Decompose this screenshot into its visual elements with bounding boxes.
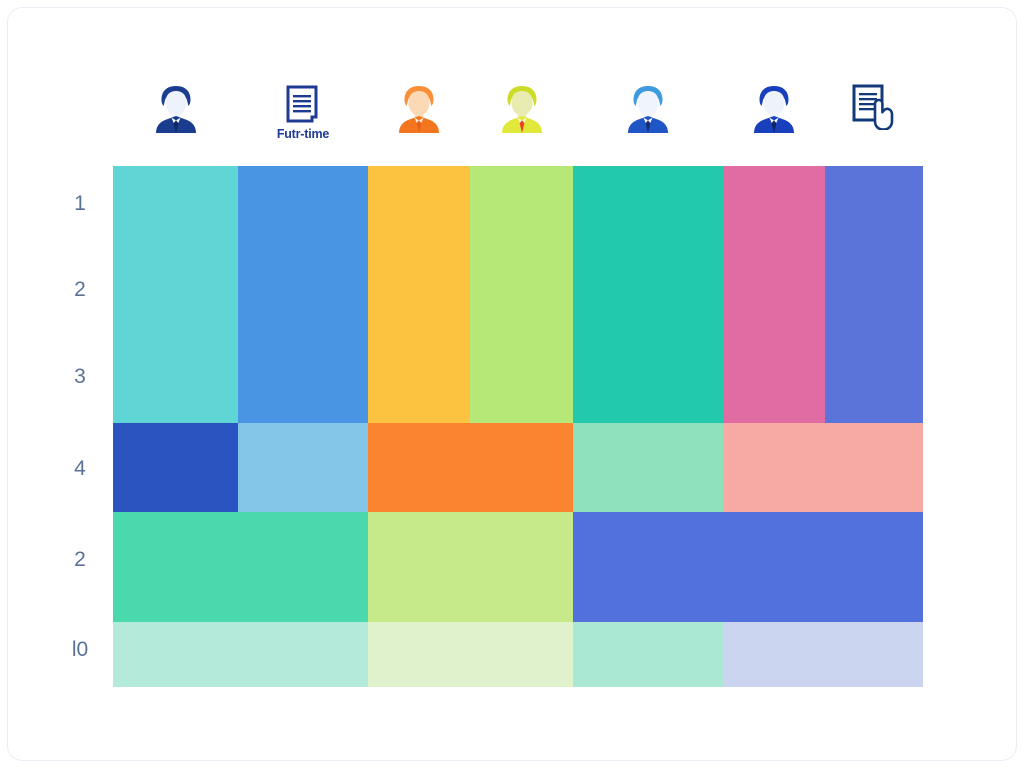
column-header-2[interactable]: Futr-time [238, 84, 368, 158]
band-rows-1-3 [113, 166, 923, 423]
person-orange-icon [396, 84, 442, 134]
band-row-6 [113, 622, 923, 687]
heatmap-cell-r1-c6[interactable] [723, 166, 825, 423]
heatmap-cell-r3-c1[interactable] [113, 512, 368, 622]
heatmap-cell-r1-c5[interactable] [573, 166, 723, 423]
heatmap-cell-r1-c2[interactable] [238, 166, 368, 423]
heatmap-grid [113, 166, 923, 687]
businessman-blue-icon [751, 84, 797, 134]
chart-canvas: Futr-time 12342l0 [0, 0, 1024, 768]
heatmap-cell-r2-c1[interactable] [113, 423, 238, 512]
document-lines-icon [282, 84, 324, 126]
heatmap-cell-r3-c2[interactable] [368, 512, 573, 622]
heatmap-cell-r4-c4[interactable] [723, 622, 923, 687]
heatmap-cell-r2-c2[interactable] [238, 423, 368, 512]
person-yellow-red-tie-icon [499, 84, 545, 134]
column-header-label: Futr-time [277, 127, 329, 141]
heatmap-cell-r3-c3[interactable] [573, 512, 923, 622]
band-row-4 [113, 423, 923, 512]
column-header-1[interactable] [113, 84, 238, 158]
businessman-lightblue-hair-icon [625, 84, 671, 134]
column-header-4[interactable] [470, 84, 573, 158]
column-header-7[interactable] [825, 84, 923, 158]
y-axis-tick-2: 2 [56, 278, 104, 302]
y-axis-tick-6: l0 [56, 638, 104, 662]
column-header-5[interactable] [573, 84, 723, 158]
heatmap-cell-r1-c7[interactable] [825, 166, 923, 423]
y-axis-tick-5: 2 [56, 548, 104, 572]
y-axis-tick-4: 4 [56, 457, 104, 481]
heatmap-cell-r2-c3[interactable] [368, 423, 573, 512]
heatmap-cell-r1-c4[interactable] [470, 166, 573, 423]
heatmap-cell-r4-c2[interactable] [368, 622, 573, 687]
heatmap-cell-r1-c1[interactable] [113, 166, 238, 423]
column-header-3[interactable] [368, 84, 470, 158]
businessman-navy-icon [153, 84, 199, 134]
heatmap-cell-r1-c3[interactable] [368, 166, 470, 423]
y-axis-tick-1: 1 [56, 192, 104, 216]
heatmap-cell-r4-c1[interactable] [113, 622, 368, 687]
band-row-5 [113, 512, 923, 622]
document-hand-click-icon [849, 84, 899, 130]
column-header-6[interactable] [723, 84, 825, 158]
y-axis: 12342l0 [56, 166, 104, 687]
heatmap-cell-r2-c4[interactable] [573, 423, 723, 512]
column-header-strip: Futr-time [113, 84, 923, 158]
y-axis-tick-3: 3 [56, 365, 104, 389]
heatmap-cell-r4-c3[interactable] [573, 622, 723, 687]
heatmap-cell-r2-c5[interactable] [723, 423, 923, 512]
